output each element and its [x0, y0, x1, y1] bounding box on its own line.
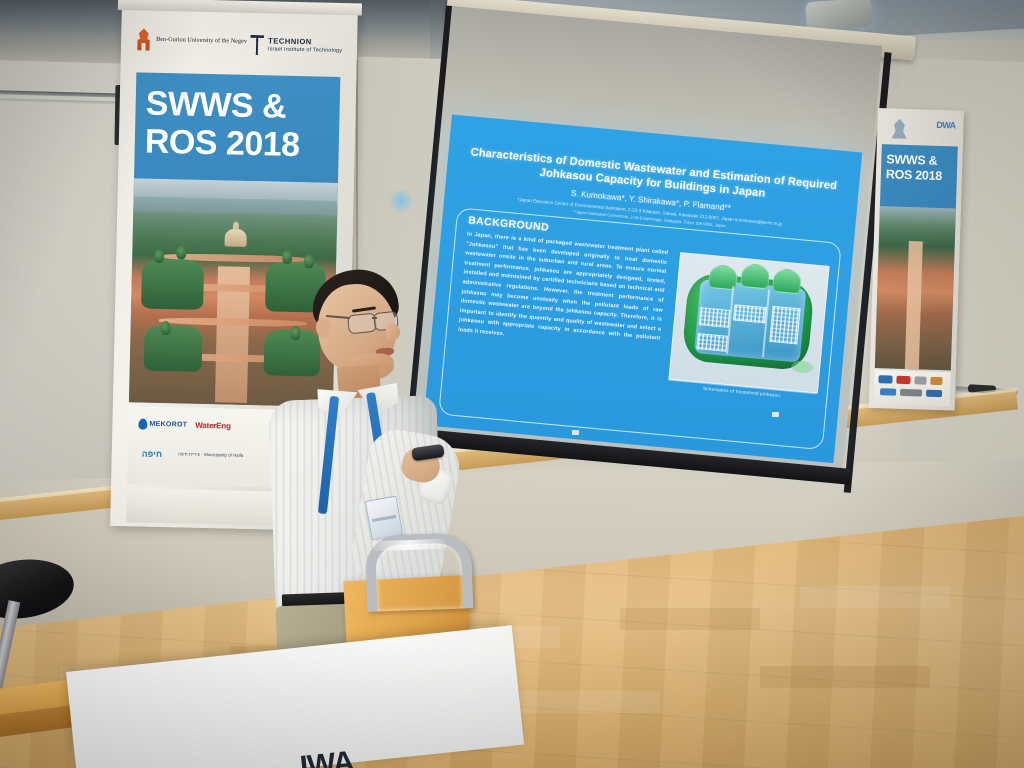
watereng-logo: WaterEng: [195, 421, 231, 431]
banner-logo-row: Ben-Gurion University of the Negev TECHN…: [131, 24, 350, 73]
right-banner-sponsor-strip: [874, 370, 951, 406]
dwa-logo: DWA: [936, 120, 956, 131]
bgu-flame-icon: [135, 28, 152, 50]
right-photo-path: [905, 241, 923, 369]
johkasou-manhole-2: [740, 263, 770, 289]
right-banner-logo-row: DWA: [881, 114, 960, 146]
johkasou-manhole-3: [772, 268, 802, 294]
right-conference-banner: DWA SWWS & ROS 2018: [869, 108, 964, 411]
johkasou-aeration-chamber: [769, 306, 800, 344]
glasses-bridge: [372, 317, 377, 319]
banner-title-line-2: ROS 2018: [144, 123, 333, 165]
technion-mark-icon: [249, 35, 265, 55]
technion-subtitle: Israel Institute of Technology: [268, 46, 342, 54]
mekorot-logo: MEKOROT: [138, 418, 187, 430]
glasses-lens-left: [347, 313, 377, 335]
technion-logo: TECHNION Israel Institute of Technology: [249, 35, 343, 57]
ceiling-light-fixture-icon: [805, 0, 873, 30]
lens-flare: [388, 188, 414, 214]
haifa-municipality-note: עיריית חיפה · Municipality of Haifa: [178, 452, 243, 459]
mekorot-drop-icon: [138, 418, 147, 429]
johkasou-filter-media-2: [696, 333, 727, 352]
bgu-logo: Ben-Gurion University of the Negev: [135, 28, 247, 53]
banner-title: SWWS & ROS 2018: [144, 85, 334, 165]
projected-slide: Characteristics of Domestic Wastewater a…: [423, 114, 862, 463]
projection-screen: Characteristics of Domestic Wastewater a…: [411, 6, 889, 493]
slide-body-text: In Japan, there is a kind of packaged wa…: [458, 230, 669, 354]
iwa-logo-icon: [887, 118, 912, 139]
haifa-logo: חיפה: [142, 449, 163, 459]
bgu-logo-label: Ben-Gurion University of the Negev: [156, 36, 247, 45]
mekorot-label: MEKOROT: [149, 421, 187, 429]
right-banner-title-line-2: ROS 2018: [886, 167, 954, 184]
banner-title-line-1: SWWS &: [145, 85, 334, 127]
johkasou-filter-media-3: [733, 304, 766, 323]
technion-logo-label: TECHNION Israel Institute of Technology: [268, 38, 343, 54]
screen-bar-marker-2: [772, 412, 779, 417]
johkasou-figure-logo: [791, 360, 814, 374]
technion-name: TECHNION: [268, 36, 312, 46]
haifa-label: חיפה: [142, 449, 163, 459]
conference-photo: Characteristics of Domestic Wastewater a…: [0, 0, 1024, 768]
johkasou-filter-media-1: [699, 307, 731, 328]
dwa-label: DWA: [936, 120, 956, 131]
right-banner-title: SWWS & ROS 2018: [886, 152, 955, 184]
watereng-label: WaterEng: [195, 421, 231, 431]
johkasou-diagram: [668, 252, 829, 393]
right-banner-blue-field: SWWS & ROS 2018: [875, 144, 958, 370]
screen-bar-marker-1: [572, 430, 579, 435]
photo-dome: [224, 228, 246, 246]
right-banner-photo: [875, 206, 956, 370]
presenter-nose: [385, 324, 400, 341]
